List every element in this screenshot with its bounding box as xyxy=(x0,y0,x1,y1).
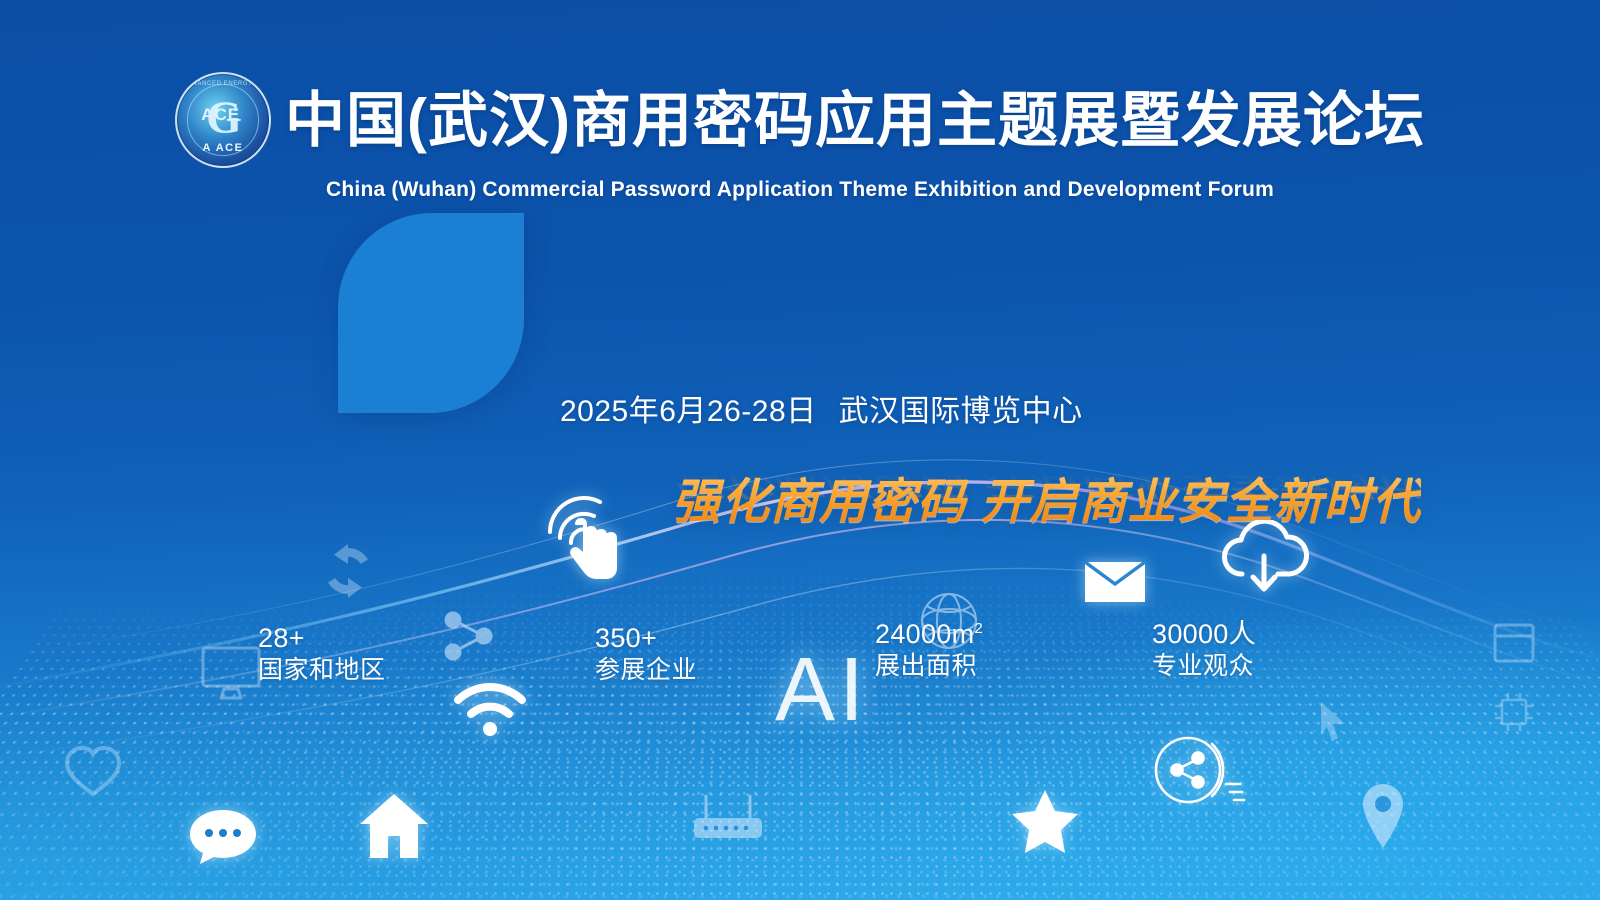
star-icon xyxy=(1010,788,1080,854)
cursor-arrow-icon xyxy=(1316,700,1350,744)
router-icon xyxy=(688,788,768,844)
stat-block-countries: 28+ 国家和地区 xyxy=(258,622,386,685)
leaf-accent-shape xyxy=(338,213,524,413)
wifi-icon xyxy=(450,678,530,740)
stat-label: 参展企业 xyxy=(595,655,697,686)
stat-label: 国家和地区 xyxy=(258,655,386,686)
poster-canvas: ASIA ADVANCED ENERGY FORUM G ACE A ACE 中… xyxy=(0,0,1600,900)
chat-bubble-icon xyxy=(188,808,258,866)
window-icon xyxy=(1492,622,1536,664)
stat-number: 30000人 xyxy=(1152,618,1256,651)
poster-header: ASIA ADVANCED ENERGY FORUM G ACE A ACE 中… xyxy=(0,0,1600,202)
title-row: ASIA ADVANCED ENERGY FORUM G ACE A ACE 中… xyxy=(0,0,1600,168)
stat-label: 展出面积 xyxy=(875,651,983,682)
share-nodes-icon xyxy=(442,605,496,667)
cloud-download-icon xyxy=(1216,520,1312,602)
monitor-icon xyxy=(200,645,262,701)
logo-bottom-text: A ACE xyxy=(203,142,244,154)
stat-block-exhibitors: 350+ 参展企业 xyxy=(595,622,697,685)
logo-arc-text: ASIA ADVANCED ENERGY FORUM xyxy=(175,81,271,87)
stat-number: 28+ xyxy=(258,622,386,655)
chip-icon xyxy=(1490,688,1538,736)
stat-block-visitors: 30000人 专业观众 xyxy=(1152,618,1256,681)
event-date: 2025年6月26-28日 xyxy=(560,395,817,428)
event-venue: 武汉国际博览中心 xyxy=(839,395,1083,428)
event-slogan: 强化商用密码 开启商业安全新时代 xyxy=(672,462,1421,532)
stat-number-value: 24000m xyxy=(875,619,974,649)
logo-center-text: ACE xyxy=(201,105,240,125)
home-icon xyxy=(358,792,430,860)
stat-number: 24000m2 xyxy=(875,618,983,651)
event-date-venue: 2025年6月26-28日武汉国际博览中心 xyxy=(560,386,1083,430)
aace-circular-logo: ASIA ADVANCED ENERGY FORUM G ACE A ACE xyxy=(175,72,271,168)
slogan-block: 强化商用密码 开启商业安全新时代 强化商用密码 开启商业安全新时代 xyxy=(672,462,1421,532)
location-pin-icon xyxy=(1358,782,1408,852)
stat-block-area: 24000m2 展出面积 xyxy=(875,618,983,681)
touch-pointer-icon xyxy=(540,490,624,586)
heart-icon xyxy=(62,742,124,800)
page-subtitle: China (Wuhan) Commercial Password Applic… xyxy=(0,178,1600,202)
page-title: 中国(武汉)商用密码应用主题展暨发展论坛 xyxy=(285,89,1425,152)
envelope-icon xyxy=(1082,558,1148,606)
stat-number-unit: 2 xyxy=(974,620,983,637)
share-circle-icon xyxy=(1148,730,1248,810)
ai-watermark-label: AI xyxy=(775,645,868,735)
stat-label: 专业观众 xyxy=(1152,651,1256,682)
stat-number: 350+ xyxy=(595,622,697,655)
refresh-icon xyxy=(318,540,378,602)
